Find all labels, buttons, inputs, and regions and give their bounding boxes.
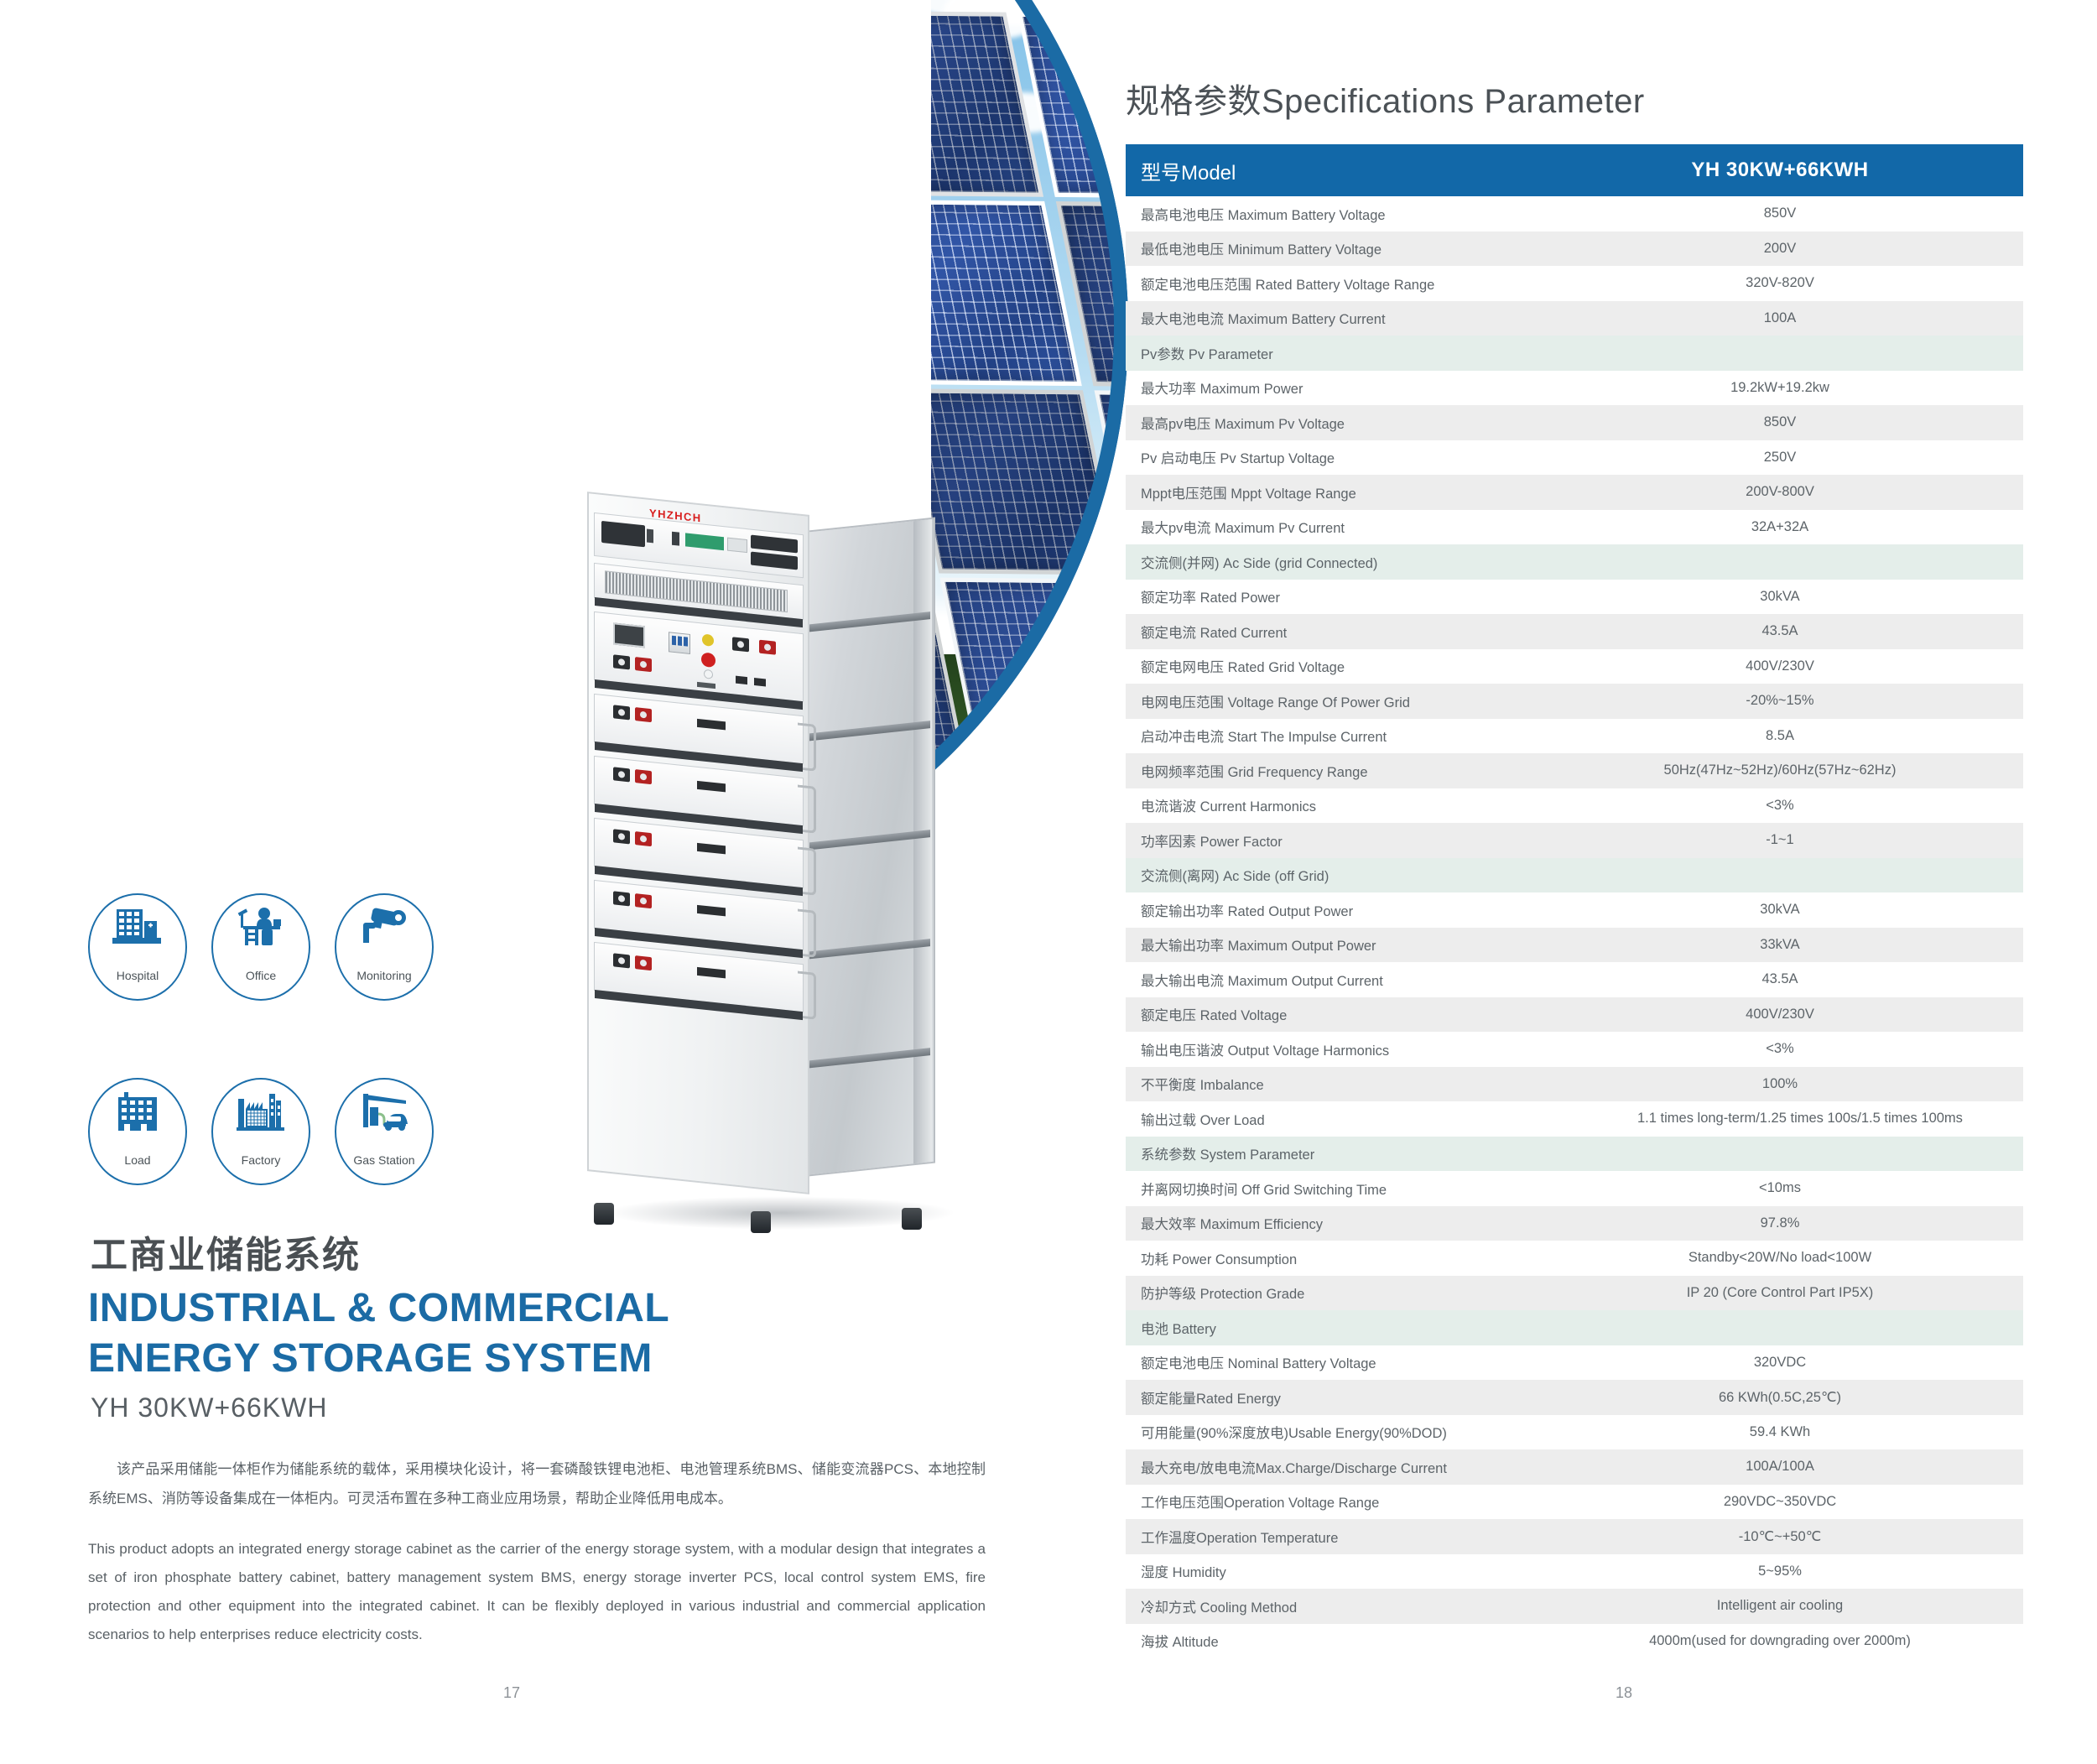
row-value: 66 KWh(0.5C,25℃) (1637, 1389, 2023, 1406)
title-line-2: ENERGY STORAGE SYSTEM (88, 1334, 759, 1384)
table-row: 最高pv电压 Maximum Pv Voltage850V (1126, 405, 2023, 440)
table-section-row: 电池 Battery (1126, 1310, 2023, 1345)
caster-wheel (902, 1208, 922, 1230)
app-icon-office[interactable]: Office (211, 893, 310, 1001)
table-row: 工作温度Operation Temperature-10℃~+50℃ (1126, 1519, 2023, 1554)
row-label: 最高电池电压 Maximum Battery Voltage (1126, 204, 1637, 224)
row-value: 4000m(used for downgrading over 2000m) (1637, 1633, 2023, 1649)
emergency-stop-button[interactable] (701, 652, 715, 668)
row-value: <10ms (1637, 1180, 2023, 1196)
left-page: YHZHCH (0, 0, 1048, 1764)
app-icon-load[interactable]: Load (88, 1078, 187, 1185)
table-row: Mppt电压范围 Mppt Voltage Range200V-800V (1126, 475, 2023, 510)
factory-icon (237, 1092, 285, 1135)
row-label: 海拔 Altitude (1126, 1631, 1637, 1651)
row-value: 30kVA (1637, 902, 2023, 918)
row-value: Intelligent air cooling (1637, 1598, 2023, 1614)
app-label: Office (211, 969, 310, 982)
row-value: 32A+32A (1637, 519, 2023, 535)
row-label: 工作电压范围Operation Voltage Range (1126, 1491, 1637, 1512)
row-label: 额定电网电压 Rated Grid Voltage (1126, 656, 1637, 676)
title-line-1: INDUSTRIAL & COMMERCIAL (88, 1283, 759, 1334)
circuit-breaker[interactable] (669, 632, 690, 654)
hospital-icon (112, 908, 163, 950)
row-label: 冷却方式 Cooling Method (1126, 1596, 1637, 1616)
brochure-spread: YHZHCH (0, 0, 2097, 1764)
table-row: 最大pv电流 Maximum Pv Current32A+32A (1126, 510, 2023, 545)
table-row: 额定电池电压 Nominal Battery Voltage320VDC (1126, 1345, 2023, 1381)
row-label: 最大输出功率 Maximum Output Power (1126, 934, 1637, 955)
table-row: 额定电池电压范围 Rated Battery Voltage Range320V… (1126, 266, 2023, 301)
model-name: YH 30KW+66KWH (91, 1392, 327, 1423)
row-label: Mppt电压范围 Mppt Voltage Range (1126, 482, 1637, 502)
row-value: 200V (1637, 241, 2023, 257)
row-label: 最低电池电压 Minimum Battery Voltage (1126, 238, 1637, 258)
caster-wheel (594, 1203, 614, 1225)
row-label: 额定输出功率 Rated Output Power (1126, 900, 1637, 920)
table-row: 输出过载 Over Load1.1 times long-term/1.25 t… (1126, 1101, 2023, 1137)
row-label: 电池 Battery (1126, 1318, 1637, 1338)
app-label: Hospital (88, 969, 187, 982)
row-label: 湿度 Humidity (1126, 1561, 1637, 1581)
table-row: 防护等级 Protection GradeIP 20 (Core Control… (1126, 1276, 2023, 1311)
specifications-table: 型号Model YH 30KW+66KWH 最高电池电压 Maximum Bat… (1126, 144, 2023, 1658)
apartment-building-icon (113, 1092, 162, 1135)
cabinet-front-modules: YHZHCH (587, 492, 809, 1194)
table-row: 最高电池电压 Maximum Battery Voltage850V (1126, 196, 2023, 232)
row-label: 系统参数 System Parameter (1126, 1143, 1637, 1163)
row-value: 290VDC~350VDC (1637, 1494, 2023, 1510)
row-value: 5~95% (1637, 1564, 2023, 1579)
table-row: 电网频率范围 Grid Frequency Range50Hz(47Hz~52H… (1126, 753, 2023, 788)
table-row: 最大充电/放电电流Max.Charge/Discharge Current100… (1126, 1449, 2023, 1485)
cctv-camera-icon (360, 908, 408, 950)
table-row: 最大效率 Maximum Efficiency97.8% (1126, 1206, 2023, 1241)
row-value: 8.5A (1637, 728, 2023, 744)
table-row: 启动冲击电流 Start The Impulse Current8.5A (1126, 719, 2023, 754)
table-section-row: Pv参数 Pv Parameter (1126, 336, 2023, 371)
table-row: 最低电池电压 Minimum Battery Voltage200V (1126, 232, 2023, 267)
row-value: -20%~15% (1637, 693, 2023, 709)
row-value: 50Hz(47Hz~52Hz)/60Hz(57Hz~62Hz) (1637, 762, 2023, 778)
app-label: Monitoring (335, 969, 434, 982)
table-section-row: 交流侧(并网) Ac Side (grid Connected) (1126, 544, 2023, 580)
row-label: 可用能量(90%深度放电)Usable Energy(90%DOD) (1126, 1422, 1637, 1442)
table-row: 海拔 Altitude4000m(used for downgrading ov… (1126, 1624, 2023, 1659)
row-value: IP 20 (Core Control Part IP5X) (1637, 1285, 2023, 1301)
row-label: 额定电压 Rated Voltage (1126, 1004, 1637, 1024)
table-row: 最大输出功率 Maximum Output Power33kVA (1126, 928, 2023, 963)
energy-storage-cabinet-product-image: YHZHCH (579, 503, 990, 1225)
table-row: 最大功率 Maximum Power19.2kW+19.2kw (1126, 371, 2023, 406)
row-value: 320VDC (1637, 1355, 2023, 1371)
row-label: 启动冲击电流 Start The Impulse Current (1126, 726, 1637, 746)
row-value: 400V/230V (1637, 658, 2023, 674)
table-row: Pv 启动电压 Pv Startup Voltage250V (1126, 440, 2023, 476)
table-row: 并离网切换时间 Off Grid Switching Time<10ms (1126, 1171, 2023, 1206)
row-label: 最大电池电流 Maximum Battery Current (1126, 308, 1637, 328)
description-english: This product adopts an integrated energy… (88, 1535, 986, 1649)
row-label: 最大充电/放电电流Max.Charge/Discharge Current (1126, 1457, 1637, 1477)
row-value: Standby<20W/No load<100W (1637, 1250, 2023, 1266)
page-title-english: INDUSTRIAL & COMMERCIAL ENERGY STORAGE S… (88, 1283, 759, 1385)
comm-socket-a (736, 676, 747, 684)
table-row: 可用能量(90%深度放电)Usable Energy(90%DOD)59.4 K… (1126, 1415, 2023, 1450)
app-icon-hospital[interactable]: Hospital (88, 893, 187, 1001)
row-label: 功耗 Power Consumption (1126, 1248, 1637, 1268)
row-value: 100A (1637, 310, 2023, 326)
header-value: YH 30KW+66KWH (1637, 159, 2023, 182)
row-value: 100A/100A (1637, 1459, 2023, 1475)
row-value: <3% (1637, 798, 2023, 814)
row-value: 19.2kW+19.2kw (1637, 380, 2023, 396)
page-number-right: 18 (1616, 1684, 1632, 1702)
app-icon-gas-station[interactable]: Gas Station (335, 1078, 434, 1185)
row-label: 功率因素 Power Factor (1126, 830, 1637, 851)
table-row: 电网电压范围 Voltage Range Of Power Grid-20%~1… (1126, 684, 2023, 719)
row-value: 850V (1637, 206, 2023, 221)
row-value: 43.5A (1637, 971, 2023, 987)
row-label: 最高pv电压 Maximum Pv Voltage (1126, 413, 1637, 433)
table-row: 功率因素 Power Factor-1~1 (1126, 823, 2023, 858)
row-value: 320V-820V (1637, 275, 2023, 291)
row-label: 交流侧(离网) Ac Side (off Grid) (1126, 865, 1637, 885)
table-row: 最大输出电流 Maximum Output Current43.5A (1126, 962, 2023, 997)
application-scenarios: Hospital (88, 893, 440, 1187)
app-icon-factory[interactable]: Factory (211, 1078, 310, 1185)
module-control-panel (594, 611, 804, 702)
row-value: <3% (1637, 1041, 2023, 1057)
indicator-lamp-yellow (702, 633, 714, 646)
table-header-row: 型号Model YH 30KW+66KWH (1126, 144, 2023, 196)
row-label: 额定电池电压 Nominal Battery Voltage (1126, 1352, 1637, 1372)
table-row: 电流谐波 Current Harmonics<3% (1126, 788, 2023, 824)
row-value: 59.4 KWh (1637, 1424, 2023, 1440)
row-label: Pv参数 Pv Parameter (1126, 343, 1637, 363)
page-title-chinese: 工商业储能系统 (91, 1225, 361, 1278)
row-label: 输出电压谐波 Output Voltage Harmonics (1126, 1039, 1637, 1059)
row-label: 最大功率 Maximum Power (1126, 377, 1637, 398)
table-row: 输出电压谐波 Output Voltage Harmonics<3% (1126, 1032, 2023, 1067)
row-label: 额定电流 Rated Current (1126, 622, 1637, 642)
table-row: 功耗 Power ConsumptionStandby<20W/No load<… (1126, 1241, 2023, 1276)
row-label: 额定能量Rated Energy (1126, 1387, 1637, 1408)
row-value: 100% (1637, 1076, 2023, 1092)
row-value: 250V (1637, 450, 2023, 466)
row-label: 额定电池电压范围 Rated Battery Voltage Range (1126, 273, 1637, 294)
office-desk-icon (237, 908, 285, 950)
row-value: 400V/230V (1637, 1007, 2023, 1022)
app-label: Gas Station (335, 1153, 434, 1167)
row-label: 最大输出电流 Maximum Output Current (1126, 970, 1637, 990)
row-label: 并离网切换时间 Off Grid Switching Time (1126, 1179, 1637, 1199)
table-section-row: 交流侧(离网) Ac Side (off Grid) (1126, 858, 2023, 893)
table-section-row: 系统参数 System Parameter (1126, 1137, 2023, 1172)
lcd-display (613, 622, 645, 648)
app-icon-monitoring[interactable]: Monitoring (335, 893, 434, 1001)
header-label: 型号Model (1126, 156, 1637, 185)
row-label: Pv 启动电压 Pv Startup Voltage (1126, 447, 1637, 467)
row-label: 交流侧(并网) Ac Side (grid Connected) (1126, 552, 1637, 572)
table-row: 额定电压 Rated Voltage400V/230V (1126, 997, 2023, 1033)
table-row: 湿度 Humidity5~95% (1126, 1554, 2023, 1590)
description-chinese: 该产品采用储能一体柜作为储能系统的载体，采用模块化设计，将一套磷酸铁锂电池柜、电… (88, 1455, 986, 1514)
page-number-left: 17 (503, 1684, 520, 1702)
row-label: 防护等级 Protection Grade (1126, 1283, 1637, 1303)
ac-terminal-negative (732, 637, 749, 652)
row-value: 43.5A (1637, 623, 2023, 639)
row-label: 最大pv电流 Maximum Pv Current (1126, 517, 1637, 537)
row-label: 额定功率 Rated Power (1126, 586, 1637, 606)
row-value: 850V (1637, 414, 2023, 430)
row-value: 97.8% (1637, 1215, 2023, 1231)
app-label: Factory (211, 1153, 310, 1167)
table-row: 工作电压范围Operation Voltage Range290VDC~350V… (1126, 1485, 2023, 1520)
right-page: 规格参数Specifications Parameter 型号Model YH … (1048, 0, 2097, 1764)
table-row: 额定功率 Rated Power30kVA (1126, 580, 2023, 615)
row-value: 33kVA (1637, 937, 2023, 953)
table-row: 额定电网电压 Rated Grid Voltage400V/230V (1126, 649, 2023, 684)
table-row: 额定输出功率 Rated Output Power30kVA (1126, 892, 2023, 928)
table-row: 额定能量Rated Energy66 KWh(0.5C,25℃) (1126, 1380, 2023, 1415)
row-value: 200V-800V (1637, 484, 2023, 500)
row-label: 电流谐波 Current Harmonics (1126, 795, 1637, 815)
app-label: Load (88, 1153, 187, 1167)
row-label: 电网电压范围 Voltage Range Of Power Grid (1126, 691, 1637, 711)
usb-port (697, 682, 715, 689)
table-row: 不平衡度 Imbalance100% (1126, 1067, 2023, 1102)
row-label: 电网频率范围 Grid Frequency Range (1126, 761, 1637, 781)
table-row: 额定电流 Rated Current43.5A (1126, 614, 2023, 649)
comm-socket-b (754, 678, 766, 686)
indicator-lamp-white (704, 669, 713, 679)
ev-charging-station-icon (360, 1092, 408, 1135)
row-value: -1~1 (1637, 832, 2023, 848)
row-label: 输出过载 Over Load (1126, 1109, 1637, 1129)
ac-terminal-positive (759, 640, 776, 655)
row-value: 30kVA (1637, 589, 2023, 605)
dc-terminal-negative (613, 654, 630, 669)
row-value: -10℃~+50℃ (1637, 1528, 2023, 1545)
dc-terminal-positive (635, 657, 652, 672)
row-label: 不平衡度 Imbalance (1126, 1074, 1637, 1094)
row-value: 1.1 times long-term/1.25 times 100s/1.5 … (1637, 1111, 2063, 1127)
row-label: 最大效率 Maximum Efficiency (1126, 1213, 1637, 1233)
specifications-heading: 规格参数Specifications Parameter (1126, 74, 1645, 122)
row-label: 工作温度Operation Temperature (1126, 1527, 1637, 1547)
table-row: 冷却方式 Cooling MethodIntelligent air cooli… (1126, 1589, 2023, 1624)
table-row: 最大电池电流 Maximum Battery Current100A (1126, 301, 2023, 336)
caster-wheel (751, 1211, 771, 1233)
